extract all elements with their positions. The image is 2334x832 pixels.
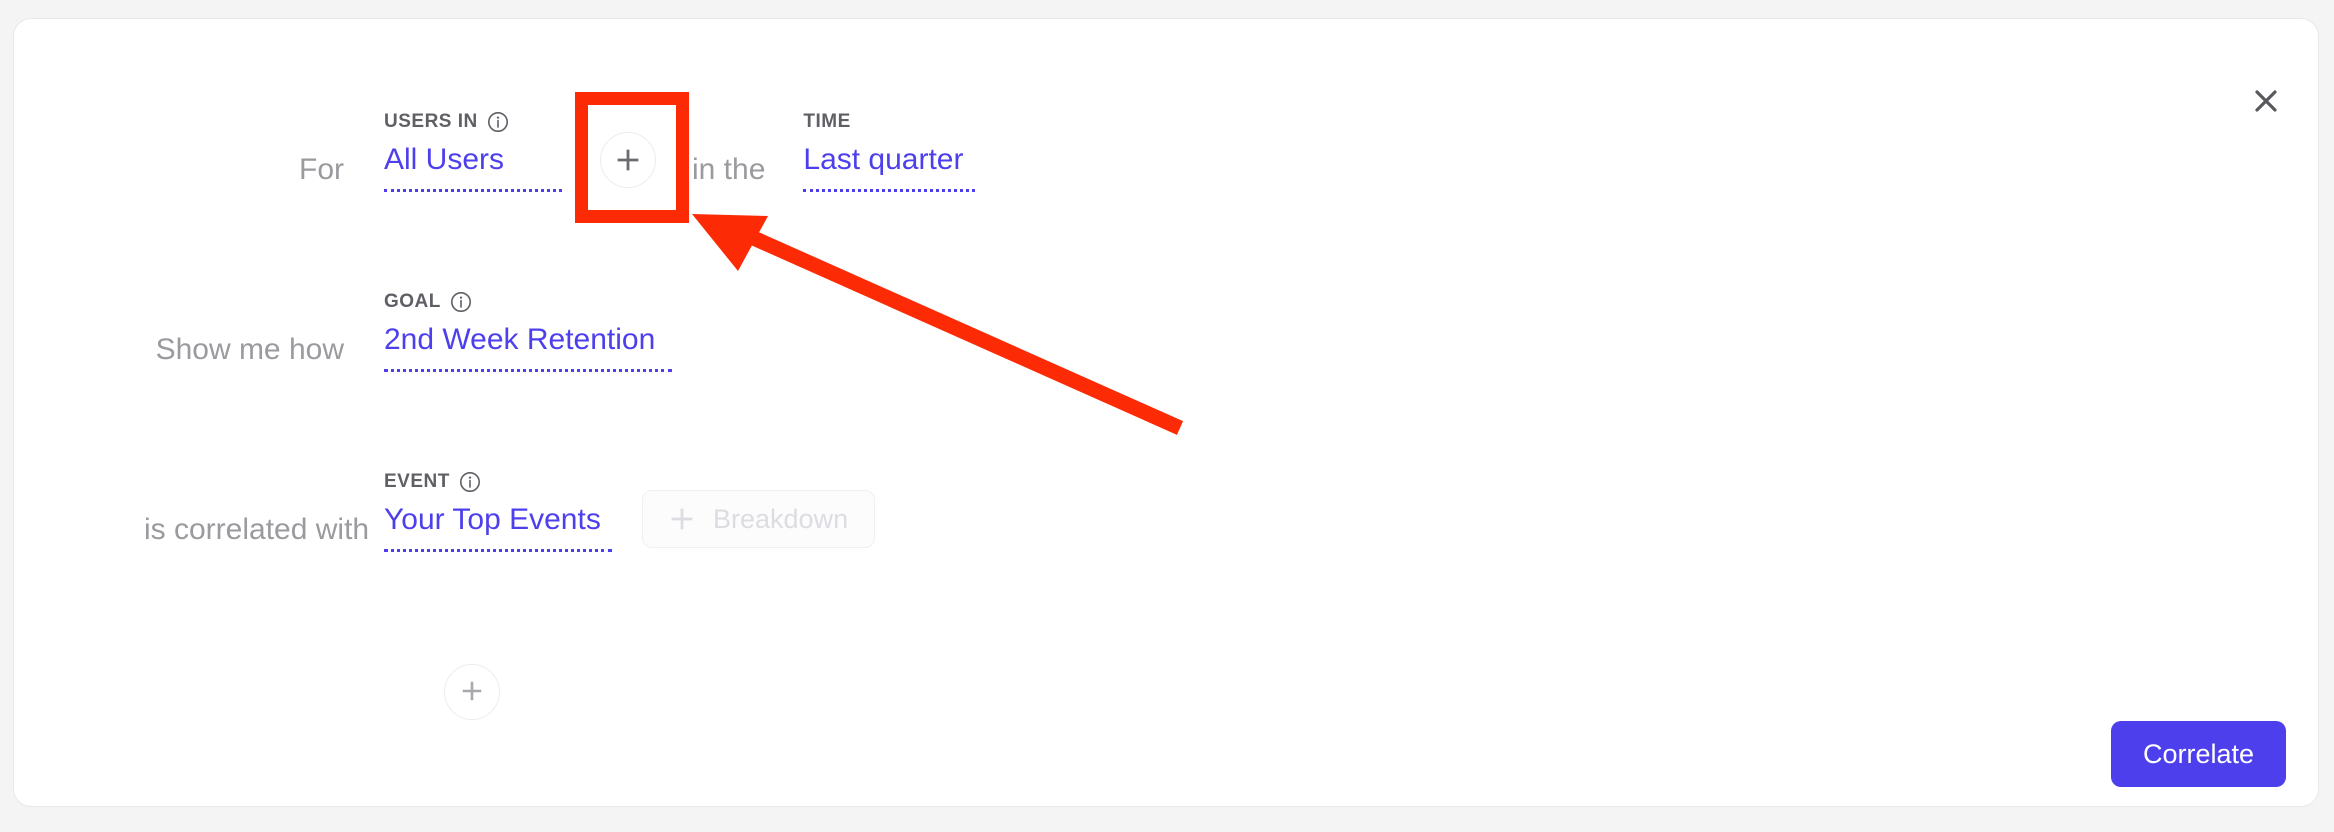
breakdown-label: Breakdown [713, 503, 848, 535]
query-row-event: is correlated with EVENT Your Top Events [144, 471, 1144, 552]
row-connector-in-the: in the [692, 152, 765, 192]
plus-icon [613, 145, 643, 175]
field-event: EVENT Your Top Events [384, 471, 612, 552]
row-prefix-for: For [144, 152, 344, 192]
info-icon[interactable] [450, 291, 472, 313]
query-row-goal: Show me how GOAL 2nd Week Retention [144, 291, 1044, 372]
close-icon [2251, 86, 2281, 116]
info-icon[interactable] [459, 471, 481, 493]
query-row-users: For USERS IN All Users [144, 111, 1244, 192]
field-label-users-in: USERS IN [384, 111, 509, 133]
add-query-row-button[interactable] [444, 664, 500, 720]
users-in-label-text: USERS IN [384, 111, 478, 133]
event-label-text: EVENT [384, 471, 450, 493]
row-prefix-is-correlated-with: is correlated with [144, 512, 344, 552]
time-label-text: TIME [803, 111, 850, 133]
field-value-goal[interactable]: 2nd Week Retention [384, 322, 672, 372]
correlate-button[interactable]: Correlate [2111, 721, 2286, 787]
field-users-in: USERS IN All Users [384, 111, 562, 192]
info-icon[interactable] [487, 111, 509, 133]
plus-icon [669, 506, 695, 532]
field-value-users-in[interactable]: All Users [384, 142, 562, 192]
field-label-time: TIME [803, 111, 850, 133]
plus-icon [458, 677, 486, 708]
field-label-goal: GOAL [384, 291, 472, 313]
add-cohort-plus-button[interactable] [600, 132, 656, 188]
close-button[interactable] [2242, 77, 2290, 125]
field-label-event: EVENT [384, 471, 481, 493]
field-value-time[interactable]: Last quarter [803, 142, 975, 192]
row-prefix-show-me-how: Show me how [144, 332, 344, 372]
goal-label-text: GOAL [384, 291, 441, 313]
app-root: For USERS IN All Users [0, 0, 2334, 832]
field-goal: GOAL 2nd Week Retention [384, 291, 672, 372]
correlation-query-card: For USERS IN All Users [13, 18, 2319, 807]
field-time: TIME Last quarter [803, 111, 975, 192]
add-breakdown-button[interactable]: Breakdown [642, 490, 875, 548]
field-value-event[interactable]: Your Top Events [384, 502, 612, 552]
